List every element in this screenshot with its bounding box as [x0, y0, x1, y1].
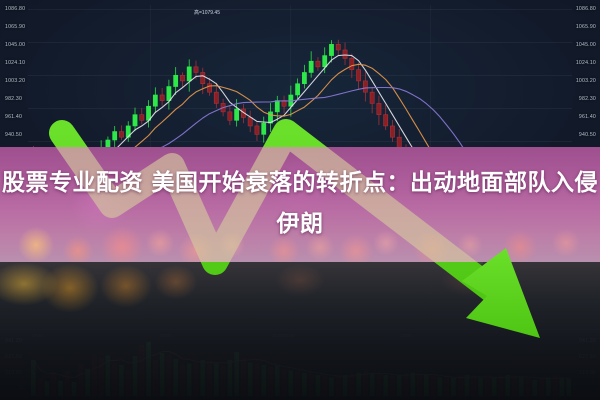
stock-news-banner: 1086.80 1065.90 1045.00 1024.10 1003.20 …: [0, 0, 600, 400]
page-title: 股票专业配资 美国开始衰落的转折点：出动地面部队入侵伊朗: [0, 163, 600, 245]
